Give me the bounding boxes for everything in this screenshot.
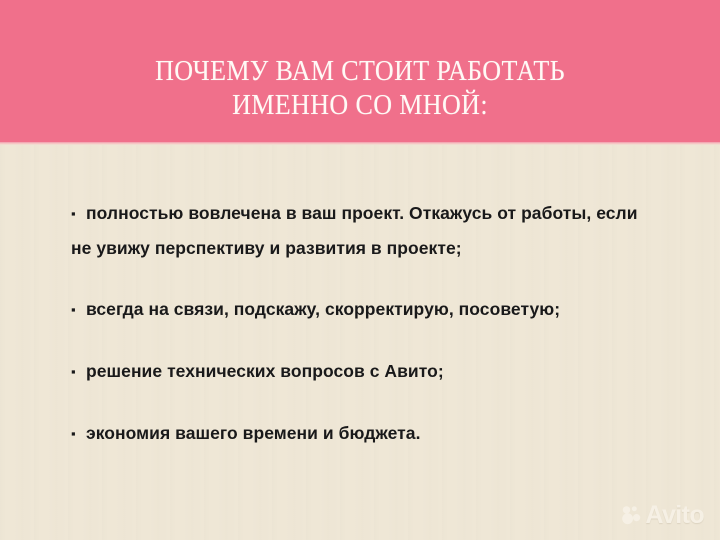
- list-item: ▪полностью вовлечена в ваш проект. Откаж…: [71, 196, 656, 265]
- avito-wordmark: Avito: [645, 503, 704, 528]
- list-item: ▪решение технических вопросов с Авито;: [71, 354, 656, 389]
- body-area: ▪полностью вовлечена в ваш проект. Откаж…: [0, 145, 720, 540]
- square-bullet-icon: ▪: [71, 417, 86, 451]
- header-band: ПОЧЕМУ ВАМ СТОИТ РАБОТАТЬ ИМЕННО СО МНОЙ…: [0, 0, 720, 145]
- list-item-text: экономия вашего времени и бюджета.: [86, 423, 421, 443]
- slide-canvas: ПОЧЕМУ ВАМ СТОИТ РАБОТАТЬ ИМЕННО СО МНОЙ…: [0, 0, 720, 540]
- list-item: ▪всегда на связи, подскажу, скорректирую…: [71, 292, 656, 327]
- square-bullet-icon: ▪: [71, 197, 86, 231]
- list-item-text: решение технических вопросов с Авито;: [86, 361, 444, 381]
- avito-watermark: Avito: [621, 503, 704, 528]
- list-item-text: полностью вовлечена в ваш проект. Откажу…: [71, 203, 638, 258]
- list-item-text: всегда на связи, подскажу, скорректирую,…: [86, 299, 560, 319]
- square-bullet-icon: ▪: [71, 355, 86, 389]
- square-bullet-icon: ▪: [71, 293, 86, 327]
- benefits-list: ▪полностью вовлечена в ваш проект. Откаж…: [71, 196, 656, 451]
- page-title: ПОЧЕМУ ВАМ СТОИТ РАБОТАТЬ ИМЕННО СО МНОЙ…: [25, 55, 695, 123]
- list-item: ▪экономия вашего времени и бюджета.: [71, 416, 656, 451]
- avito-logo-icon: [621, 505, 642, 526]
